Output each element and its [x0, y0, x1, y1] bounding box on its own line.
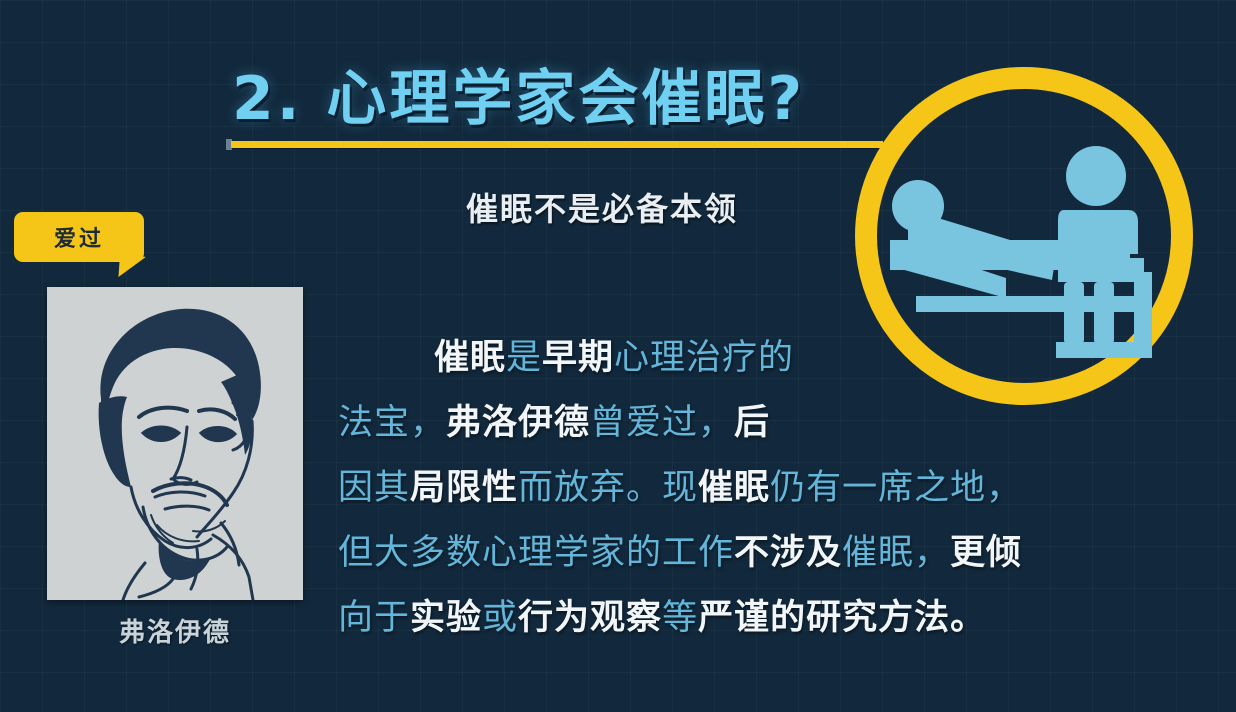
- body-segment: 更倾: [950, 533, 1022, 573]
- body-segment: 局限性: [410, 468, 518, 508]
- page-title: 2. 心理学家会催眠?: [232, 62, 892, 136]
- body-segment: 催眠: [434, 338, 506, 378]
- body-line: 法宝，弗洛伊德曾爱过，后: [338, 391, 1098, 456]
- body-segment: 早期: [542, 338, 614, 378]
- body-segment: 仍有一席之地，: [770, 468, 1022, 508]
- body-segment: 实验: [410, 598, 482, 638]
- speech-bubble-label: 爱过: [54, 221, 104, 253]
- body-segment: 但大多数心理学家的工作: [338, 533, 734, 573]
- body-segment: 向于: [338, 598, 410, 638]
- body-segment: 不涉及: [734, 533, 842, 573]
- speech-bubble: 爱过: [14, 212, 144, 262]
- body-line: 但大多数心理学家的工作不涉及催眠，更倾: [338, 521, 1098, 586]
- body-segment: 法宝，: [338, 403, 446, 443]
- body-segment: 催眠: [698, 468, 770, 508]
- body-segment: 催眠，: [842, 533, 950, 573]
- freud-portrait: [47, 287, 303, 600]
- body-segment: 严谨的研究方法。: [698, 598, 986, 638]
- page-subtitle: 催眠不是必备本领: [466, 184, 738, 230]
- infographic-slide: 2. 心理学家会催眠? 催眠不是必备本领 爱过: [0, 0, 1236, 712]
- body-segment: 后: [734, 403, 770, 443]
- body-segment: 是: [506, 338, 542, 378]
- body-segment: 或: [482, 598, 518, 638]
- body-paragraph: 催眠是早期心理治疗的法宝，弗洛伊德曾爱过，后因其局限性而放弃。现催眠仍有一席之地…: [338, 326, 1098, 651]
- body-segment: 弗洛伊德: [446, 403, 590, 443]
- portrait-caption: 弗洛伊德: [47, 612, 303, 649]
- body-segment: 因其: [338, 468, 410, 508]
- body-line: 向于实验或行为观察等严谨的研究方法。: [338, 586, 1098, 651]
- body-segment: 曾爱过，: [590, 403, 734, 443]
- body-line: 催眠是早期心理治疗的: [338, 326, 1098, 391]
- body-segment: 等: [662, 598, 698, 638]
- body-segment: 行为观察: [518, 598, 662, 638]
- body-segment: 而放弃。现: [518, 468, 698, 508]
- body-segment: 心理治疗的: [614, 338, 794, 378]
- body-line: 因其局限性而放弃。现催眠仍有一席之地，: [338, 456, 1098, 521]
- title-underline: [231, 141, 883, 148]
- portrait-illustration: [47, 287, 303, 600]
